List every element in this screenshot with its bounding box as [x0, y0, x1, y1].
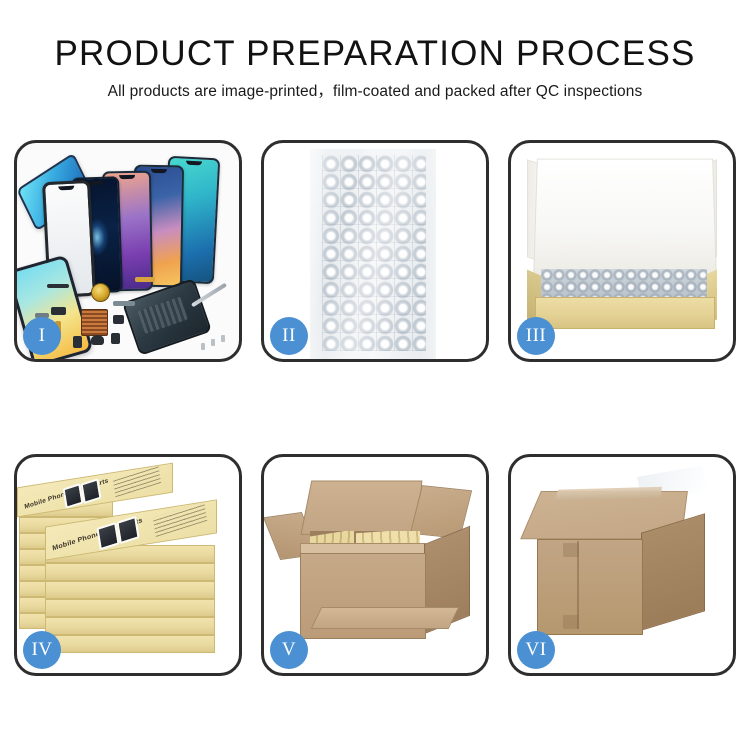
flex-cable-icon: [113, 301, 135, 306]
screw-icon: [211, 339, 215, 346]
stacked-box: [45, 599, 215, 617]
box-lid-icon: [533, 159, 717, 280]
chip-icon: [73, 336, 82, 348]
step-panel-5: V: [261, 454, 489, 676]
notch-icon: [151, 169, 167, 173]
carton-flap-back-icon: [300, 481, 422, 535]
screw-icon: [221, 335, 225, 342]
chip-icon: [47, 284, 69, 288]
button-icon: [91, 335, 104, 345]
bubble-texture-icon: [541, 269, 707, 299]
flex-cable-icon: [135, 277, 155, 282]
step-panel-2: II: [261, 140, 489, 362]
step-badge-5: V: [270, 631, 308, 669]
notch-icon: [58, 186, 74, 191]
carton-tab-icon: [563, 543, 579, 557]
step-badge-2: II: [270, 317, 308, 355]
page-title: PRODUCT PREPARATION PROCESS: [0, 34, 750, 74]
carton-flap-front-icon: [311, 607, 460, 629]
notch-icon: [119, 175, 135, 179]
step-panel-4: Mobile Phone Spare Parts Mobile Phone Sp…: [14, 454, 242, 676]
step-panel-3: III: [508, 140, 736, 362]
plastic-shine-icon: [310, 149, 436, 359]
chip-icon: [111, 333, 120, 344]
step-badge-6: VI: [517, 631, 555, 669]
page-subtitle: All products are image-printed，film-coat…: [0, 81, 750, 103]
stacked-box: [45, 617, 215, 635]
chip-icon: [51, 307, 66, 315]
page-header: PRODUCT PREPARATION PROCESS All products…: [0, 0, 750, 103]
box-front-icon: [535, 297, 715, 329]
chip-icon: [113, 315, 124, 324]
step-panel-1: I: [14, 140, 242, 362]
stacked-box: [45, 581, 215, 599]
step-badge-4: IV: [23, 631, 61, 669]
stacked-box: [45, 563, 215, 581]
carton-tab-icon: [563, 615, 579, 629]
screw-plate-icon: [81, 309, 108, 336]
step-panel-6: VI: [508, 454, 736, 676]
step-badge-3: III: [517, 317, 555, 355]
notch-icon: [186, 161, 202, 166]
screw-icon: [201, 343, 205, 350]
speaker-coil-icon: [91, 283, 110, 302]
step-badge-1: I: [23, 317, 61, 355]
sealed-carton-side-icon: [641, 513, 705, 631]
bubble-wrapped-content-icon: [541, 269, 707, 299]
sealed-carton-front-icon: [537, 539, 643, 635]
stacked-box: [45, 635, 215, 653]
process-steps-grid: I II III: [0, 140, 750, 676]
